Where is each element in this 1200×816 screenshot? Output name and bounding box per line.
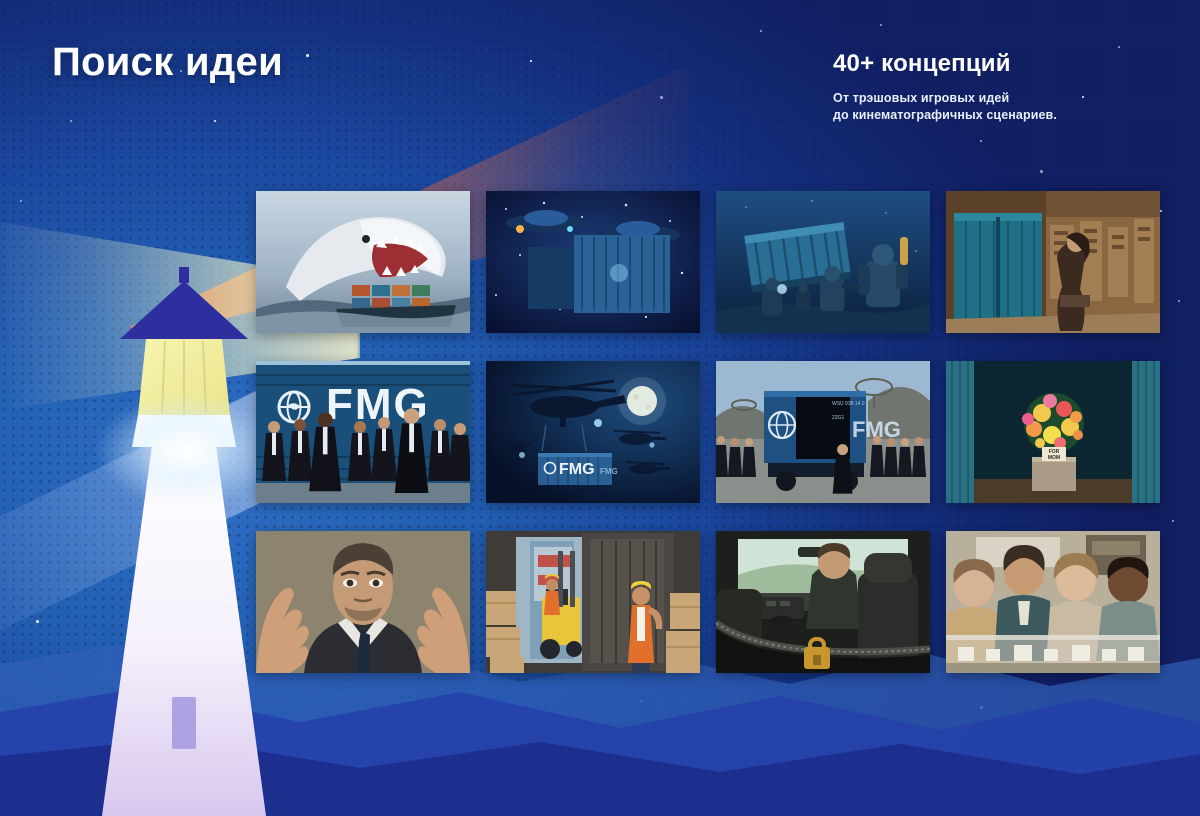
svg-text:MOM: MOM	[1048, 455, 1060, 461]
svg-text:WSU 938 14 0: WSU 938 14 0	[832, 401, 865, 407]
page-title: Поиск идеи	[52, 40, 283, 85]
concept-tile-car-interior-driver[interactable]: Слежка в пути	[716, 531, 930, 673]
concept-tile-ufo-container-abduction[interactable]: НЛО и контейнер	[486, 191, 700, 333]
concept-tile-warehouse-forklift-workers[interactable]: Погрузка на складе	[486, 531, 700, 673]
concept-tile-fmg-agents-container[interactable]: FMG FMG	[256, 361, 470, 503]
stats-description-line-2: до кинематографичных сценариев.	[833, 107, 1163, 124]
svg-text:FMG: FMG	[559, 461, 595, 478]
concept-tile-flowers-for-mom[interactable]: FOR MOM FOR MOM	[946, 361, 1160, 503]
concept-tile-truck-convoy-agents[interactable]: FMG WSU 938 14 0 22G1 FMG	[716, 361, 930, 503]
concept-tile-serious-businessman[interactable]: Сделка века	[256, 531, 470, 673]
presentation-slide: Поиск идеи 40+ концепций От трэшовых игр…	[0, 0, 1200, 816]
stats-description-line-1: От трэшовых игровых идей	[833, 90, 1163, 107]
concept-tile-shark-container-ship[interactable]: Мегалодон и контейнеровоз	[256, 191, 470, 333]
concept-tile-museum-visitors-vitrine[interactable]: Перед витриной	[946, 531, 1160, 673]
concept-tile-helicopter-night-airlift[interactable]: FMG FMG FMG	[486, 361, 700, 503]
stats-block: 40+ концепций От трэшовых игровых идей д…	[833, 50, 1163, 125]
svg-text:FMG: FMG	[600, 467, 618, 476]
concept-tile-space-marines-container[interactable]: Космодесант и груз	[716, 191, 930, 333]
concept-tile-tomb-raider-container[interactable]: Гробница и контейнер	[946, 191, 1160, 333]
svg-text:22G1: 22G1	[832, 415, 844, 421]
concepts-count-headline: 40+ концепций	[833, 50, 1163, 78]
concept-image-grid: Мегалодон и контейнеровоз	[256, 191, 1160, 673]
